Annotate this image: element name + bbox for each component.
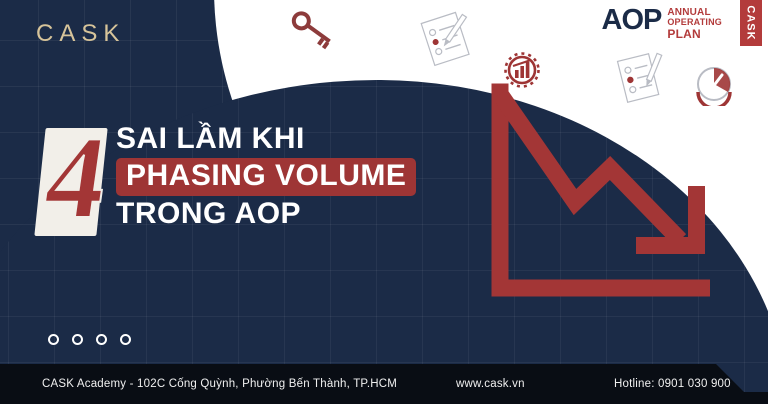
gear-bar-chart-icon	[500, 48, 544, 92]
footer-hotline: Hotline: 0901 030 900	[614, 378, 731, 390]
aop-subtitle: ANNUAL OPERATING PLAN	[667, 6, 722, 40]
checklist-pen-icon	[415, 8, 481, 68]
pagination-dot	[48, 334, 59, 345]
cask-side-tab: CASK	[740, 0, 762, 46]
cask-side-tab-label: CASK	[745, 5, 757, 40]
footer-address: CASK Academy - 102C Cống Quỳnh, Phường B…	[42, 378, 397, 390]
aop-logo: AOP ANNUAL OPERATING PLAN	[602, 6, 722, 40]
aop-subtitle-line3: PLAN	[667, 28, 722, 40]
declining-chart-arrow	[470, 60, 710, 310]
aop-acronym: AOP	[602, 6, 662, 35]
kpi-gauge-icon: KPI	[692, 62, 736, 106]
svg-text:KPI: KPI	[706, 87, 721, 97]
headline-line-2-highlight: PHASING VOLUME	[116, 158, 416, 197]
footer-website[interactable]: www.cask.vn	[456, 378, 525, 390]
key-icon	[285, 8, 341, 58]
cask-logo: CASK	[36, 20, 125, 48]
checklist-pen-icon-2	[612, 48, 672, 106]
pagination-dot	[120, 334, 131, 345]
poster-canvas: CASK AOP ANNUAL OPERATING PLAN CASK 4 SA…	[0, 0, 768, 404]
pagination-dots	[48, 334, 131, 345]
footer-bar: CASK Academy - 102C Cống Quỳnh, Phường B…	[0, 364, 768, 404]
pagination-dot	[96, 334, 107, 345]
pagination-dot	[72, 334, 83, 345]
